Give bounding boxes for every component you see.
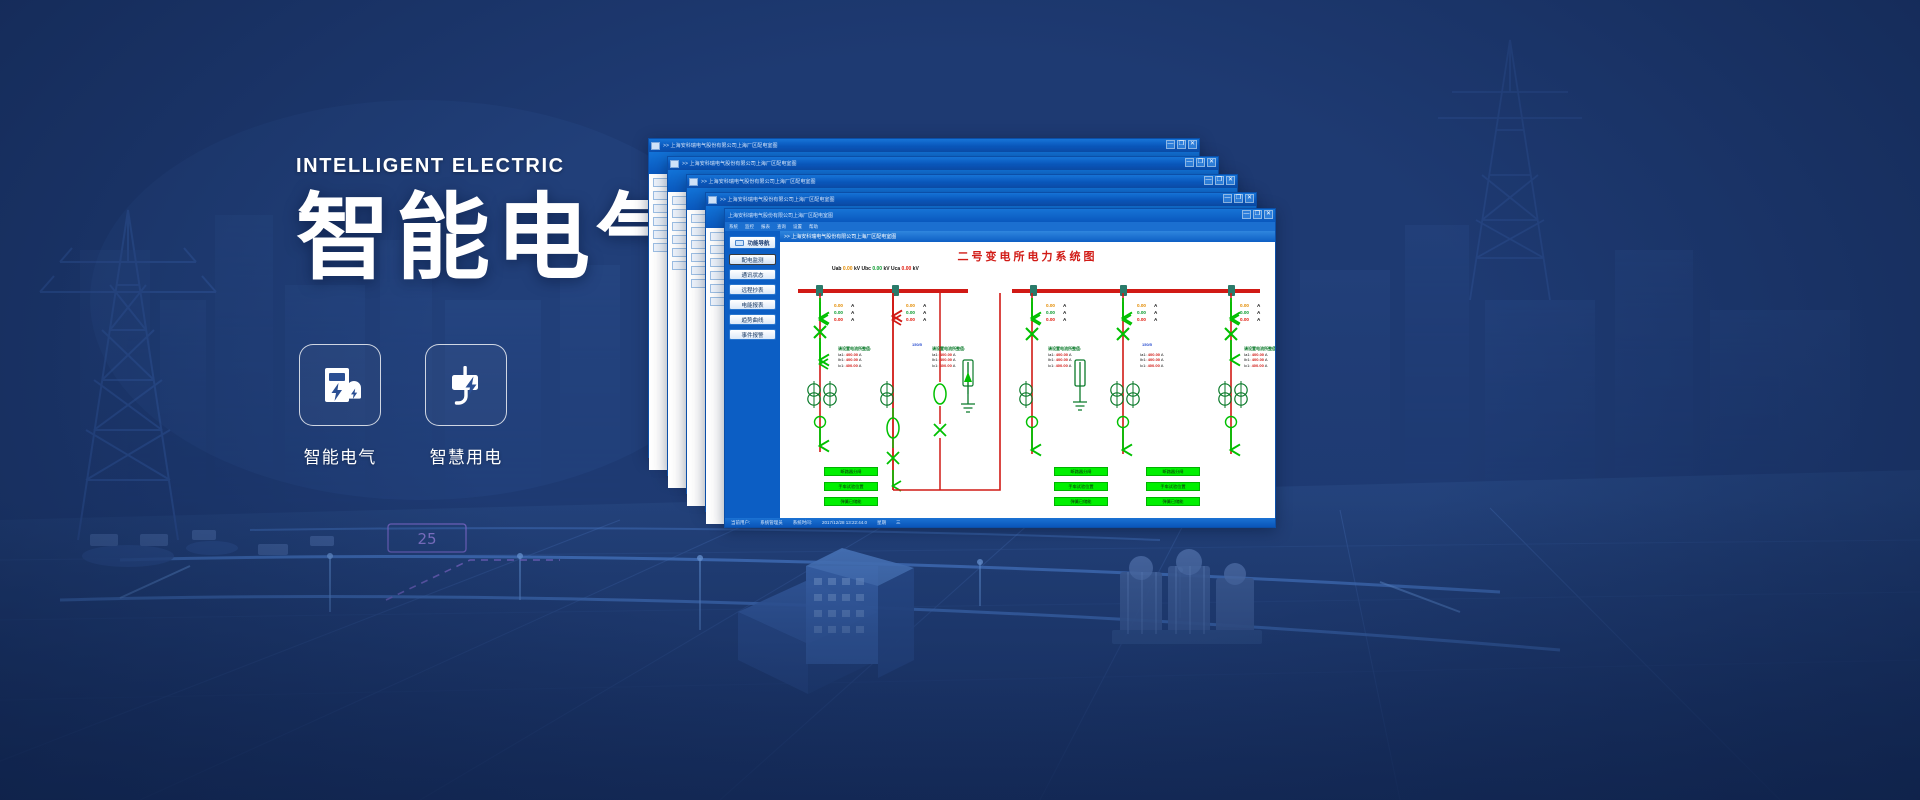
protection-value-ic: 400.00 [1056,363,1068,368]
menu-item-query[interactable]: 查询 [777,224,786,230]
status-button-truck-test-1[interactable]: 手车试验位置 [824,482,878,491]
close-button[interactable]: ✕ [1207,158,1216,167]
close-button[interactable]: ✕ [1188,140,1197,149]
menu-item-system[interactable]: 系统 [729,224,738,230]
feeder-3 [1020,293,1038,454]
protection-label-ia: Ia1: [932,352,939,357]
book-icon [735,240,744,246]
menu-item-setting[interactable]: 设置 [793,224,802,230]
current-b-unit: A [851,310,854,315]
maximize-button[interactable]: ❐ [1177,140,1186,149]
current-b: 0.00 [1240,309,1257,316]
close-button[interactable]: ✕ [1245,194,1254,203]
window-titlebar[interactable]: >> 上海安科瑞电气股份有限公司上海厂区配电室图 — ❐ ✕ [706,193,1256,206]
protection-value-ia: 400.00 [1056,352,1068,357]
minimize-button[interactable]: — [1204,176,1213,185]
status-button-truck-test-2[interactable]: 手车试验位置 [1054,482,1108,491]
window-title: >> 上海安科瑞电气股份有限公司上海厂区配电室图 [663,142,778,149]
current-c-unit: A [923,317,926,322]
status-time-label: 系统时间: [793,520,812,526]
protection-value-ia: 400.00 [940,352,952,357]
protection-unit-ib: A [953,357,956,362]
status-button-spring-charged-3[interactable]: 弹簧已储能 [1146,497,1200,506]
protection-label-ic: Ic1: [1140,363,1146,368]
current-a: 0.00 [1240,302,1257,309]
maximize-button[interactable]: ❐ [1215,176,1224,185]
diagram-breadcrumb: >> 上海安科瑞电气股份有限公司上海厂区配电室图 [780,231,1275,242]
protection-unit-ic: A [1265,363,1268,368]
current-c: 0.00 [906,316,923,323]
protection-unit-ic: A [1069,363,1072,368]
current-readout-incomer: 0.00A 0.00A 0.00A [906,302,926,323]
current-a-unit: A [1154,303,1157,308]
status-user-label: 当前用户: [731,520,750,526]
status-bar: 当前用户: 系统管理员 系统时间: 2017/12/28 13:22:44.0 … [725,518,1275,527]
protection-unit-ia: A [859,352,862,357]
sidebar-item-power-monitoring[interactable]: 配电监测 [729,254,776,265]
status-button-truck-test-3[interactable]: 手车试验位置 [1146,482,1200,491]
current-b: 0.00 [834,309,851,316]
sidebar-item-comm-status[interactable]: 通讯状态 [729,269,776,280]
protection-label-ib: Ib1: [838,357,845,362]
sidebar-item-event-alarm[interactable]: 事件报警 [729,329,776,340]
menu-item-help[interactable]: 帮助 [809,224,818,230]
current-readout-feeder1: 0.00A 0.00A 0.00A [834,302,854,323]
current-readout-feeder3: 0.00A 0.00A 0.00A [1046,302,1066,323]
function-nav-panel: 功能导航 配电监测 通讯状态 远程抄表 电能报表 趋势曲线 事件报警 [725,231,780,518]
feature-icon-box [299,344,381,426]
current-b: 0.00 [906,309,923,316]
protection-label-ib: Ib1: [1140,357,1147,362]
window-controls[interactable]: — ❐ ✕ [1185,158,1216,167]
status-user-value: 系统管理员 [760,520,783,526]
window-controls[interactable]: — ❐ ✕ [1223,194,1254,203]
protection-settings-3: 请设置电流所整值: Ia1: 400.00 A Ib1: 400.00 A Ic… [1048,346,1081,368]
busbar-left [798,289,968,293]
distribution-cabinet-icon [316,361,364,409]
protection-label-ic: Ic1: [1048,363,1054,368]
current-readout-feeder5: 0.00A 0.00A 0.00A [1240,302,1260,323]
current-readout-feeder4: 0.00A 0.00A 0.00A [1137,302,1157,323]
current-b: 0.00 [1046,309,1063,316]
feature-icon-box [425,344,507,426]
window-title: >> 上海安科瑞电气股份有限公司上海厂区配电室图 [682,160,797,167]
protection-label-ib: Ib1: [932,357,939,362]
minimize-button[interactable]: — [1242,210,1251,219]
busbar-right [1012,289,1260,293]
window-title: 上海安科瑞电气股份有限公司上海厂区配电室图 [728,212,833,219]
protection-unit-ia: A [1265,352,1268,357]
protection-value-ib: 400.00 [1252,357,1264,362]
window-controls[interactable]: — ❐ ✕ [1242,210,1273,219]
sidebar-item-remote-meter[interactable]: 远程抄表 [729,284,776,295]
window-titlebar[interactable]: >> 上海安科瑞电气股份有限公司上海厂区配电室图 — ❐ ✕ [687,175,1237,188]
window-icon [689,178,698,186]
single-line-diagram [780,242,1275,518]
current-a: 0.00 [1137,302,1154,309]
protection-unit-ib: A [1161,357,1164,362]
status-time-value: 2017/12/28 13:22:44.0 [822,520,867,525]
window-title: >> 上海安科瑞电气股份有限公司上海厂区配电室图 [701,178,816,185]
protection-label-ib: Ib1: [1048,357,1055,362]
ct-ratio-1: 150/5 [912,342,922,347]
feature-label: 智能电气 [304,443,377,468]
protection-label-ic: Ic1: [838,363,844,368]
current-b-unit: A [1063,310,1066,315]
feature-item-intelligent-electric[interactable]: 智能电气 [299,344,381,468]
protection-unit-ib: A [859,357,862,362]
status-button-breaker-open-1[interactable]: 断路器分闸 [824,467,878,476]
window-titlebar[interactable]: 上海安科瑞电气股份有限公司上海厂区配电室图 — ❐ ✕ [725,209,1275,222]
protection-value-ib: 400.00 [846,357,858,362]
protection-unit-ic: A [1161,363,1164,368]
active-window[interactable]: 上海安科瑞电气股份有限公司上海厂区配电室图 — ❐ ✕ 系统 监控 报表 查询 … [724,208,1276,528]
maximize-button[interactable]: ❐ [1234,194,1243,203]
protection-value-ib: 400.00 [1148,357,1160,362]
protection-value-ic: 400.00 [940,363,952,368]
protection-settings-5: 请设置电流所整值: Ia1: 400.00 A Ib1: 400.00 A Ic… [1244,346,1275,368]
window-titlebar[interactable]: >> 上海安科瑞电气股份有限公司上海厂区配电室图 — ❐ ✕ [668,157,1218,170]
window-icon [708,196,717,204]
status-week-label: 星期 [877,520,886,526]
feeder-4 [1111,293,1139,454]
window-controls[interactable]: — ❐ ✕ [1166,140,1197,149]
window-icon [670,160,679,168]
window-controls[interactable]: — ❐ ✕ [1204,176,1235,185]
incomer-feeder [881,293,899,490]
protection-label-ic: Ic1: [932,363,938,368]
protection-value-ia: 400.00 [1252,352,1264,357]
window-title: >> 上海安科瑞电气股份有限公司上海厂区配电室图 [720,196,835,203]
feeder-1 [808,293,836,452]
maximize-button[interactable]: ❐ [1196,158,1205,167]
status-button-spring-charged-2[interactable]: 弹簧已储能 [1054,497,1108,506]
status-button-breaker-open-2[interactable]: 断路器分闸 [1054,467,1108,476]
diagram-canvas: 二号变电所电力系统图 Uab 0.00 kV Ubc 0.00 kV Uca 0… [780,242,1275,518]
close-button[interactable]: ✕ [1226,176,1235,185]
current-a-unit: A [923,303,926,308]
current-c-unit: A [1063,317,1066,322]
protection-value-ia: 400.00 [846,352,858,357]
nav-header-label: 功能导航 [747,239,769,247]
minimize-button[interactable]: — [1185,158,1194,167]
protection-unit-ic: A [953,363,956,368]
protection-value-ic: 400.00 [1252,363,1264,368]
current-c: 0.00 [834,316,851,323]
protection-unit-ic: A [859,363,862,368]
protection-label-ia: Ia1: [1140,352,1147,357]
current-a-unit: A [1257,303,1260,308]
minimize-button[interactable]: — [1166,140,1175,149]
protection-unit-ia: A [953,352,956,357]
protection-unit-ia: A [1161,352,1164,357]
sidebar-item-trend-curve[interactable]: 趋势曲线 [729,314,776,325]
protection-unit-ib: A [1265,357,1268,362]
menu-bar[interactable]: 系统 监控 报表 查询 设置 帮助 [725,222,1275,231]
protection-value-ia: 400.00 [1148,352,1160,357]
protection-label-ia: Ia1: [838,352,845,357]
minimize-button[interactable]: — [1223,194,1232,203]
current-a-unit: A [851,303,854,308]
close-button[interactable]: ✕ [1264,210,1273,219]
current-b-unit: A [1154,310,1157,315]
current-a: 0.00 [1046,302,1063,309]
current-c-unit: A [1257,317,1260,322]
current-b-unit: A [1257,310,1260,315]
window-content: 功能导航 配电监测 通讯状态 远程抄表 电能报表 趋势曲线 事件报警 >> 上海… [725,231,1275,518]
current-b: 0.00 [1137,309,1154,316]
feature-item-smart-power[interactable]: 智慧用电 [425,344,507,468]
protection-value-ib: 400.00 [1056,357,1068,362]
protection-value-ic: 400.00 [846,363,858,368]
feature-list: 智能电气 智慧用电 [299,344,507,468]
protection-value-ic: 400.00 [1148,363,1160,368]
protection-label-ib: Ib1: [1244,357,1251,362]
protection-settings-1: 请设置电流所整值: Ia1: 400.00 A Ib1: 400.00 A Ic… [838,346,871,368]
maximize-button[interactable]: ❐ [1253,210,1262,219]
sidebar-item-energy-report[interactable]: 电能报表 [729,299,776,310]
current-c-unit: A [851,317,854,322]
current-a: 0.00 [834,302,851,309]
protection-label-ia: Ia1: [1244,352,1251,357]
protection-label-ic: Ic1: [1244,363,1250,368]
protection-settings-4: . Ia1: 400.00 A Ib1: 400.00 A Ic1: 400.0… [1140,346,1164,368]
status-button-spring-charged-1[interactable]: 弹簧已储能 [824,497,878,506]
current-c: 0.00 [1046,316,1063,323]
status-button-breaker-open-3[interactable]: 断路器分闸 [1146,467,1200,476]
sld-diagram-panel: >> 上海安科瑞电气股份有限公司上海厂区配电室图 二号变电所电力系统图 Uab … [780,231,1275,518]
menu-item-monitor[interactable]: 监控 [745,224,754,230]
current-c: 0.00 [1240,316,1257,323]
window-icon [651,142,660,150]
protection-value-ib: 400.00 [940,357,952,362]
current-a: 0.00 [906,302,923,309]
feature-label: 智慧用电 [430,443,503,468]
status-week-value: 三 [896,520,901,526]
current-b-unit: A [923,310,926,315]
power-plug-icon [442,361,490,409]
nav-header: 功能导航 [729,236,776,249]
breadcrumb-label: >> 上海安科瑞电气股份有限公司上海厂区配电室图 [784,233,896,240]
current-a-unit: A [1063,303,1066,308]
current-c-unit: A [1154,317,1157,322]
current-c: 0.00 [1137,316,1154,323]
protection-unit-ib: A [1069,357,1072,362]
window-titlebar[interactable]: >> 上海安科瑞电气股份有限公司上海厂区配电室图 — ❐ ✕ [649,139,1199,152]
protection-settings-2: 请设置电流所整值: Ia1: 400.00 A Ib1: 400.00 A Ic… [932,346,965,368]
menu-item-report[interactable]: 报表 [761,224,770,230]
protection-unit-ia: A [1069,352,1072,357]
protection-label-ia: Ia1: [1048,352,1055,357]
